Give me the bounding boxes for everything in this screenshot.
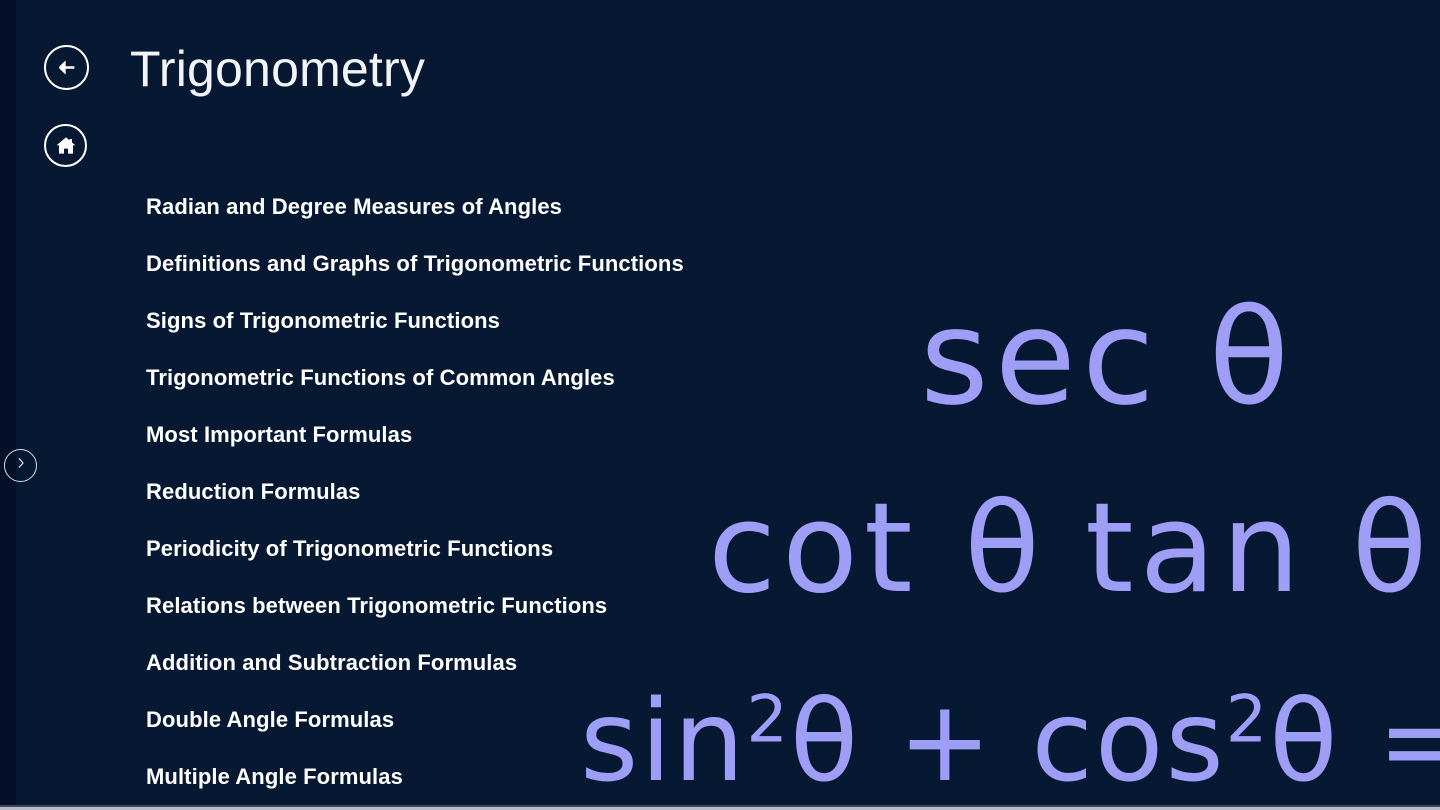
decorative-tan-theta: tan θ <box>1085 487 1433 611</box>
topic-list: Radian and Degree Measures of Angles Def… <box>146 178 906 805</box>
topic-item-radian-and-degree-measures-of-angles[interactable]: Radian and Degree Measures of Angles <box>146 178 906 235</box>
topic-item-most-important-formulas[interactable]: Most Important Formulas <box>146 406 906 463</box>
back-button[interactable] <box>44 45 89 90</box>
left-edge-strip <box>0 0 16 810</box>
page-title: Trigonometry <box>130 40 425 98</box>
home-button[interactable] <box>44 124 87 167</box>
home-icon <box>54 134 78 158</box>
decorative-sec-theta: sec θ <box>920 292 1295 424</box>
topic-item-relations-between-functions[interactable]: Relations between Trigonometric Function… <box>146 577 906 634</box>
app-root: sec θ cot θ tan θ sin2θ + cos2θ = 1 Trig… <box>0 0 1440 810</box>
page-header: Trigonometry <box>0 0 1440 120</box>
identity-exponent-2: 2 <box>1226 683 1269 758</box>
topic-item-signs-of-trigonometric-functions[interactable]: Signs of Trigonometric Functions <box>146 292 906 349</box>
next-page-button[interactable] <box>4 449 37 482</box>
chevron-right-icon <box>14 456 28 475</box>
topic-item-multiple-angle-formulas[interactable]: Multiple Angle Formulas <box>146 748 906 805</box>
topic-item-functions-of-common-angles[interactable]: Trigonometric Functions of Common Angles <box>146 349 906 406</box>
topic-item-double-angle-formulas[interactable]: Double Angle Formulas <box>146 691 906 748</box>
topic-item-reduction-formulas[interactable]: Reduction Formulas <box>146 463 906 520</box>
identity-tail: θ = 1 <box>1269 677 1440 807</box>
back-arrow-icon <box>54 55 79 80</box>
topic-item-periodicity[interactable]: Periodicity of Trigonometric Functions <box>146 520 906 577</box>
topic-item-definitions-and-graphs[interactable]: Definitions and Graphs of Trigonometric … <box>146 235 906 292</box>
topic-item-addition-and-subtraction-formulas[interactable]: Addition and Subtraction Formulas <box>146 634 906 691</box>
